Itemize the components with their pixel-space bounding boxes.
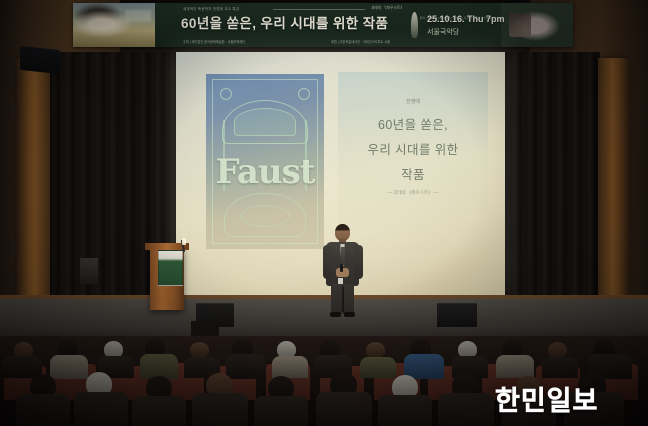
audience-head (366, 342, 385, 358)
podium-lamp-icon (182, 238, 186, 245)
stage-monitor-right (437, 303, 477, 327)
auditorium-photo: 세계적인 독문학자 전영애 교수 특강 괴테의 《파우스트》 60년을 쏟은, … (0, 0, 648, 426)
speaker-person (322, 224, 364, 318)
slide-title-line-3: 작품 (338, 164, 488, 183)
banner-title: 60년을 쏟은, 우리 시대를 위한 작품 (181, 12, 388, 32)
stage-banner: 세계적인 독문학자 전영애 교수 특강 괴테의 《파우스트》 60년을 쏟은, … (73, 3, 573, 47)
slide-kicker: 전영애 (338, 98, 488, 105)
book-cover-title: Faust (206, 152, 324, 192)
banner-venue: 서울국악당 (427, 27, 459, 37)
banner-info-block: 문의 | 02-1234-5678 예매 | 인터파크 티켓 전석무료 사전예약… (420, 16, 497, 20)
ceiling-speaker-icon (20, 46, 60, 74)
banner-divider (273, 9, 365, 10)
banner-sponsor-credit: 후원 | 주한독일대사관 · 괴테인스티투트 서울 (331, 39, 390, 44)
lecturer-portrait-image (501, 3, 573, 47)
slide-subtitle: — 괴테의 《파우스트》 — (338, 190, 488, 196)
audience-head (548, 342, 567, 358)
book-ornament-right-icon (298, 88, 310, 100)
audience-head (190, 342, 209, 358)
banner-figure-silhouette-icon (411, 12, 418, 38)
slide-title-line-1: 60년을 쏟은, (338, 114, 488, 133)
podium (150, 248, 184, 310)
podium-sign (158, 250, 183, 286)
watermark-logo: 한민일보 (495, 379, 598, 418)
stage-riser-box (191, 321, 219, 337)
slide-title-line-2: 우리 시대를 위한 (338, 139, 488, 158)
slide-book-cover-image: Faust (206, 74, 324, 249)
speaker-necktie (341, 247, 345, 265)
handheld-microphone-icon (340, 264, 343, 272)
banner-eyebrow: 세계적인 독문학자 전영애 교수 특강 (183, 6, 239, 11)
book-ornament-left-icon (220, 88, 232, 100)
banner-organizer-logos: 주최 | 재단법인 한국문화예술원 · 서울문화재단 (183, 39, 245, 44)
banner-work-label: 괴테의 《파우스트》 (371, 6, 404, 11)
goethe-portrait-image (73, 3, 155, 47)
stage-chair (80, 258, 98, 284)
